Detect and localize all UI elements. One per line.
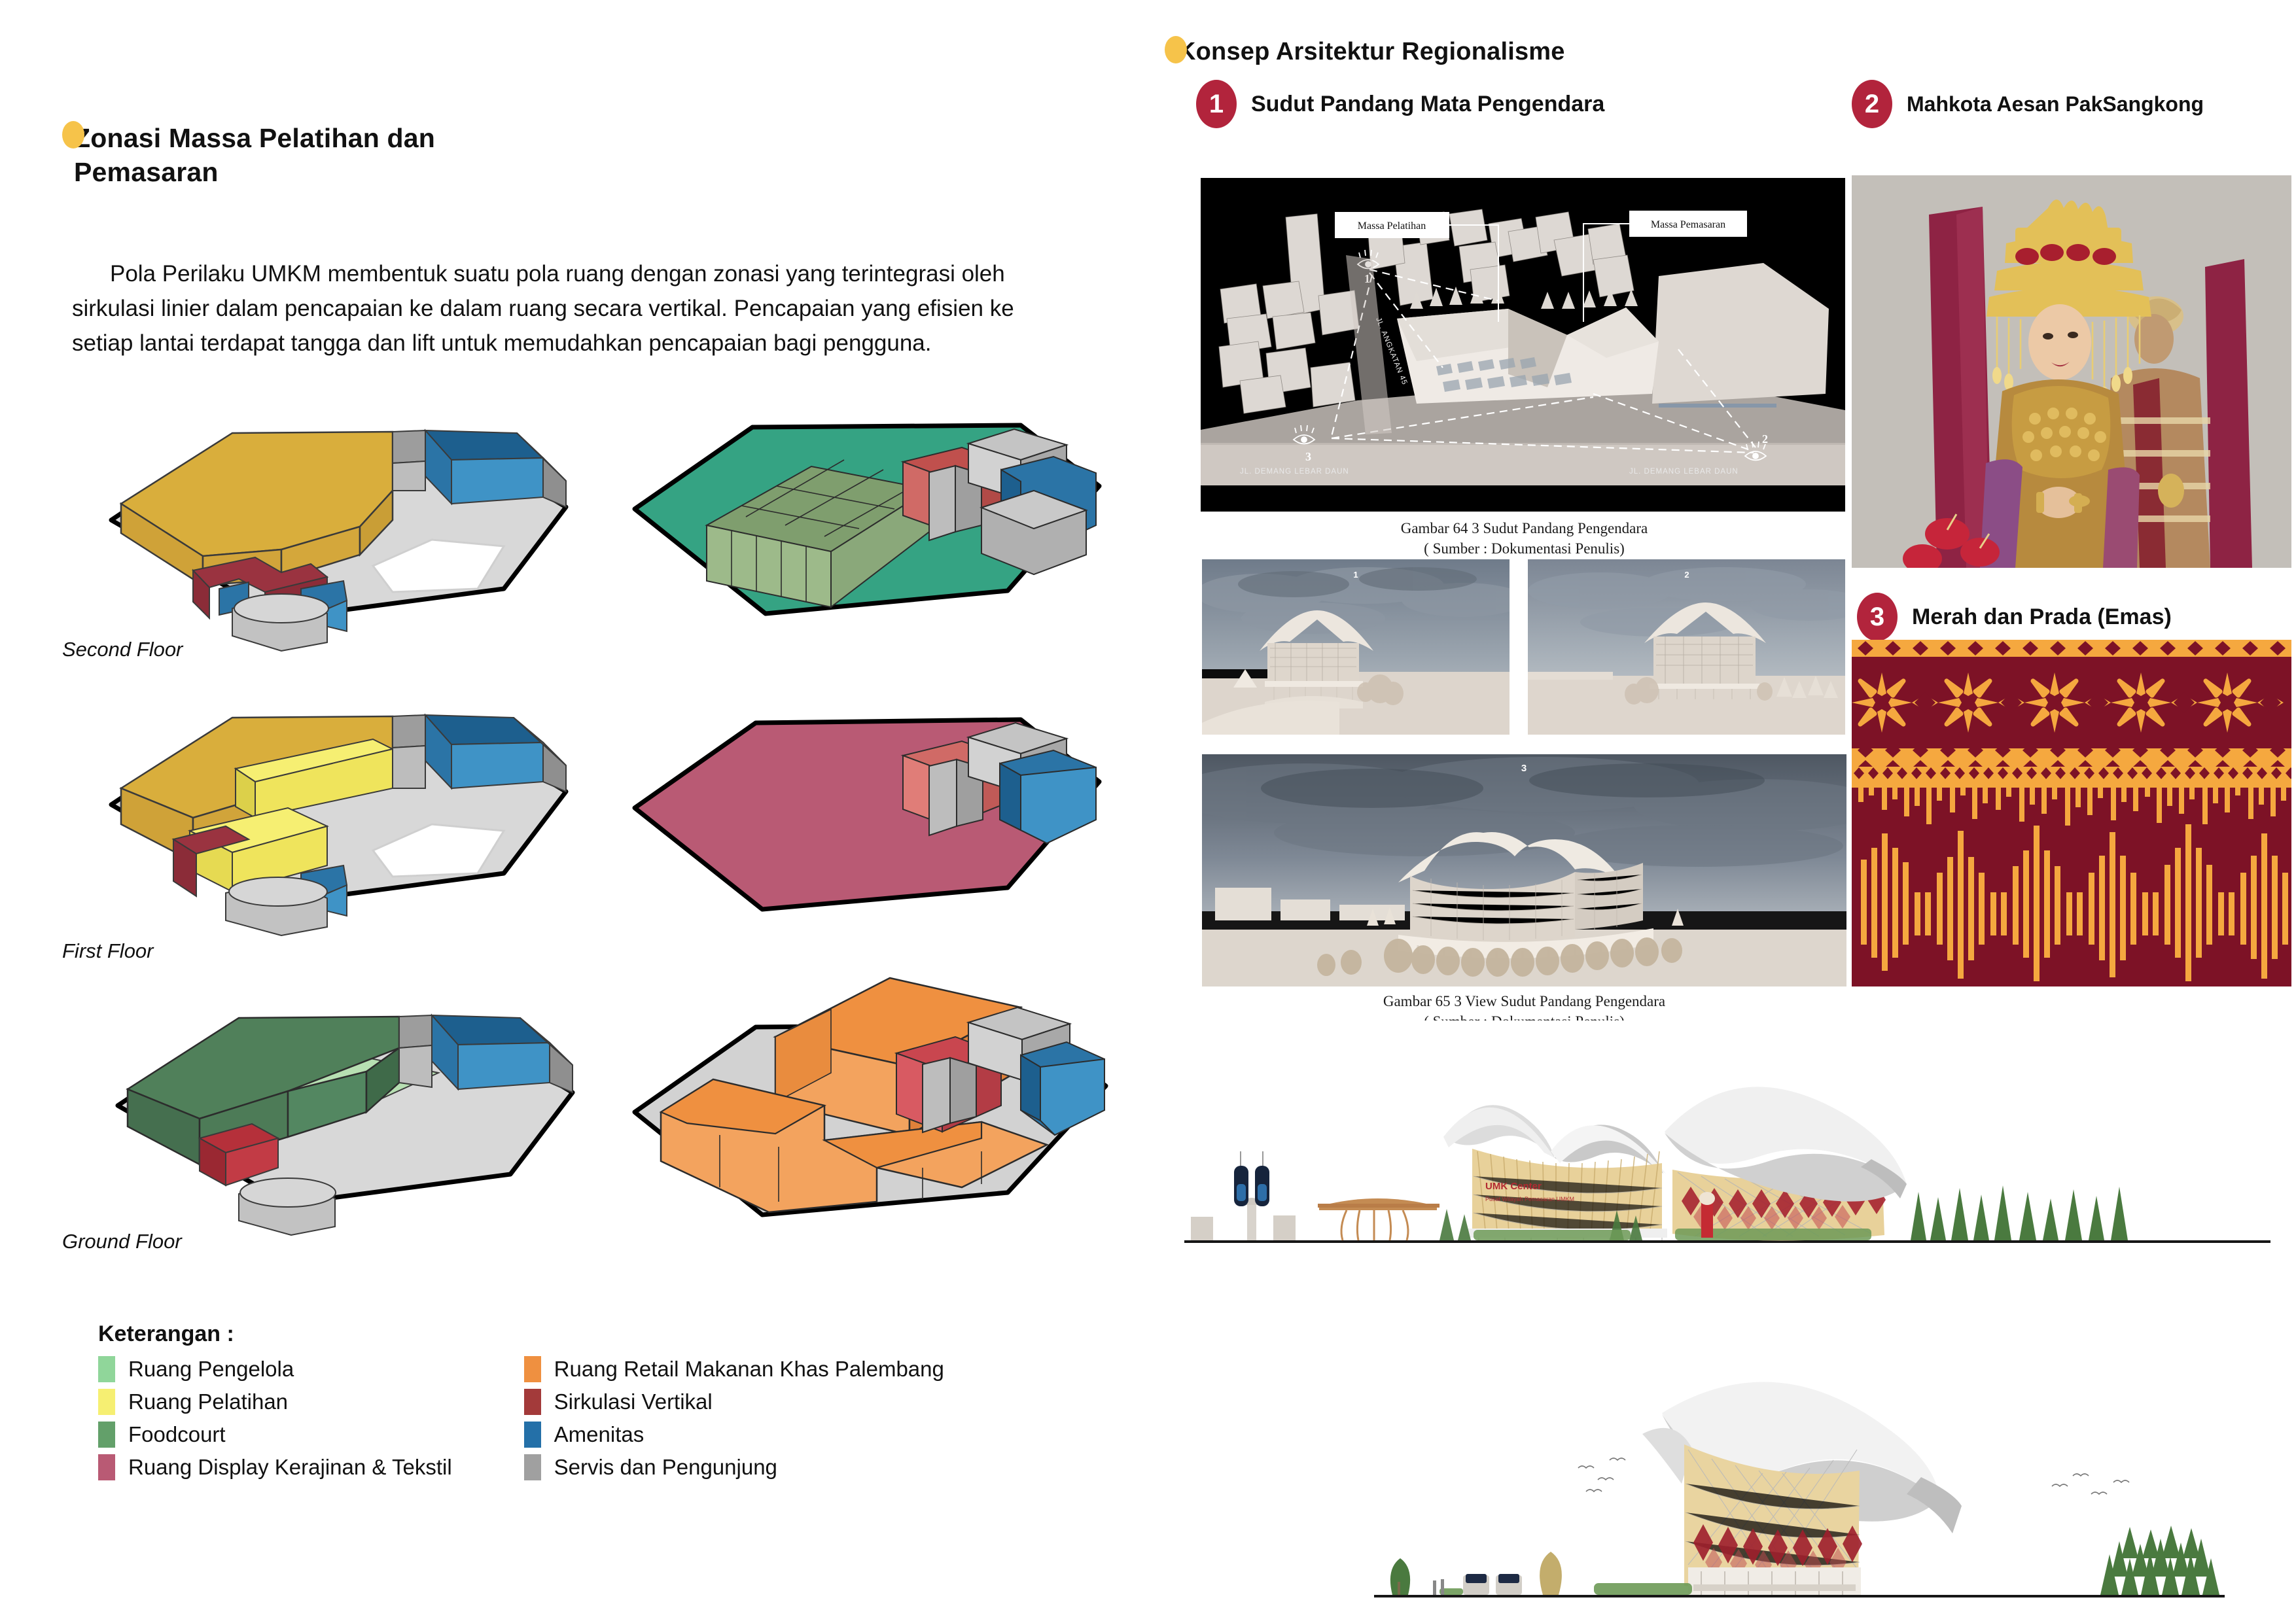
building-elevation-render-1: UMK Center Pusat Wilayah Pemasaran UMKM	[1178, 1021, 2290, 1263]
render-number-1: 1	[1353, 570, 1358, 580]
legend-label: Ruang Pengelola	[128, 1357, 294, 1382]
legend-item: Sirkulasi Vertikal	[524, 1389, 944, 1415]
floor-label-first: First Floor	[62, 939, 154, 963]
dot-bullet-icon	[1165, 36, 1187, 63]
zoning-section-title-group: Zonasi Massa Pelatihan dan Pemasaran	[62, 121, 468, 190]
caption-gambar-64: Gambar 64 3 Sudut Pandang Pengendara ( S…	[1202, 518, 1846, 559]
panel-header-3: 3 Merah dan Prada (Emas)	[1857, 593, 2172, 641]
second-floor-zoning-diagram-right	[615, 391, 1112, 646]
first-floor-zoning-diagram-right	[615, 684, 1112, 939]
songket-pattern-image	[1852, 640, 2291, 986]
legend-item: Amenitas	[524, 1422, 944, 1448]
legend-column-left: Ruang Pengelola Ruang Pelatihan Foodcour…	[98, 1356, 452, 1480]
panel-number-badge-2: 2	[1852, 80, 1892, 128]
svg-text:Pusat Wilayah Pemasaran UMKM: Pusat Wilayah Pemasaran UMKM	[1485, 1196, 1574, 1202]
right-panel: Konsep Arsitektur Regionalisme 1 Sudut P…	[1139, 0, 2296, 1623]
legend-item: Servis dan Pengunjung	[524, 1454, 944, 1480]
legend-swatch	[98, 1389, 115, 1415]
render-number-3: 3	[1521, 763, 1527, 774]
legend-label: Foodcourt	[128, 1422, 226, 1447]
legend-item: Ruang Pengelola	[98, 1356, 452, 1382]
building-elevation-render-2	[1335, 1335, 2264, 1622]
svg-text:2: 2	[1762, 432, 1768, 445]
left-panel: Zonasi Massa Pelatihan dan Pemasaran Pol…	[0, 0, 1139, 1623]
legend-item: Ruang Pelatihan	[98, 1389, 452, 1415]
legend-swatch	[524, 1454, 541, 1480]
floor-label-second: Second Floor	[62, 638, 183, 661]
svg-text:JL. DEMANG LEBAR DAUN: JL. DEMANG LEBAR DAUN	[1629, 468, 1739, 476]
zoning-paragraph: Pola Perilaku UMKM membentuk suatu pola …	[72, 256, 1053, 361]
second-floor-zoning-diagram-left	[85, 393, 582, 654]
panel-number-badge-3: 3	[1857, 593, 1898, 641]
legend-swatch	[98, 1422, 115, 1448]
legend-label: Servis dan Pengunjung	[554, 1455, 777, 1480]
legend-label: Ruang Retail Makanan Khas Palembang	[554, 1357, 944, 1382]
legend-label: Ruang Display Kerajinan & Tekstil	[128, 1455, 452, 1480]
svg-text:UMK Center: UMK Center	[1485, 1181, 1542, 1192]
legend-swatch	[524, 1422, 541, 1448]
panel-number-badge-1: 1	[1196, 80, 1237, 128]
legend-label: Sirkulasi Vertikal	[554, 1389, 713, 1414]
svg-text:3: 3	[1305, 450, 1311, 463]
legend-item: Ruang Display Kerajinan & Tekstil	[98, 1454, 452, 1480]
panel-title-3: Merah dan Prada (Emas)	[1912, 604, 2172, 630]
legend-swatch	[98, 1356, 115, 1382]
zoning-section-title: Zonasi Massa Pelatihan dan Pemasaran	[62, 121, 468, 190]
render-thumbnail-2: 2	[1528, 559, 1845, 735]
render-thumbnail-3: 3	[1202, 754, 1846, 986]
first-floor-zoning-diagram-left	[85, 677, 582, 939]
render-number-2: 2	[1684, 570, 1689, 580]
panel-title-1: Sudut Pandang Mata Pengendara	[1251, 92, 1604, 117]
panel-header-2: 2 Mahkota Aesan PakSangkong	[1852, 80, 2204, 128]
panel-header-1: 1 Sudut Pandang Mata Pengendara	[1196, 80, 1604, 128]
svg-text:Massa Pelatihan: Massa Pelatihan	[1358, 220, 1426, 232]
legend-column-right: Ruang Retail Makanan Khas Palembang Sirk…	[524, 1356, 944, 1480]
legend-item: Ruang Retail Makanan Khas Palembang	[524, 1356, 944, 1382]
svg-text:Massa Pemasaran: Massa Pemasaran	[1651, 219, 1725, 230]
legend-label: Ruang Pelatihan	[128, 1389, 288, 1414]
floor-label-ground: Ground Floor	[62, 1230, 182, 1253]
legend-title: Keterangan :	[98, 1321, 1027, 1347]
legend-swatch	[524, 1356, 541, 1382]
konsep-section-title: Konsep Arsitektur Regionalisme	[1165, 36, 1565, 68]
legend: Keterangan : Ruang Pengelola Ruang Pelat…	[98, 1321, 1027, 1480]
ground-floor-zoning-diagram-left	[92, 975, 589, 1236]
ground-floor-zoning-diagram-right	[615, 971, 1125, 1233]
legend-swatch	[98, 1454, 115, 1480]
svg-text:JL. DEMANG LEBAR DAUN: JL. DEMANG LEBAR DAUN	[1240, 468, 1349, 476]
legend-swatch	[524, 1389, 541, 1415]
legend-item: Foodcourt	[98, 1422, 452, 1448]
site-plan-aerial-image: Massa Pelatihan Massa Pemasaran	[1201, 178, 1845, 512]
panel-title-2: Mahkota Aesan PakSangkong	[1907, 92, 2204, 116]
render-thumbnail-1: 1	[1202, 559, 1510, 735]
legend-label: Amenitas	[554, 1422, 645, 1447]
konsep-title-group: Konsep Arsitektur Regionalisme	[1165, 36, 1565, 68]
mahkota-aesan-paksangkong-photo	[1852, 175, 2291, 568]
dot-bullet-icon	[62, 121, 84, 148]
